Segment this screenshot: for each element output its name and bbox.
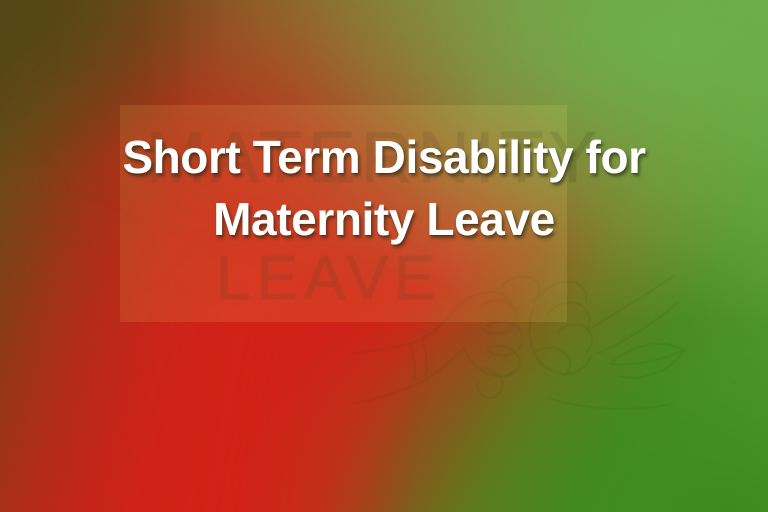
- hero-banner: MATERNITY LEAVE: [0, 0, 768, 512]
- page-title: Short Term Disability for Maternity Leav…: [0, 126, 768, 250]
- page-title-line-2: Maternity Leave: [40, 188, 728, 250]
- page-title-line-1: Short Term Disability for: [40, 126, 728, 188]
